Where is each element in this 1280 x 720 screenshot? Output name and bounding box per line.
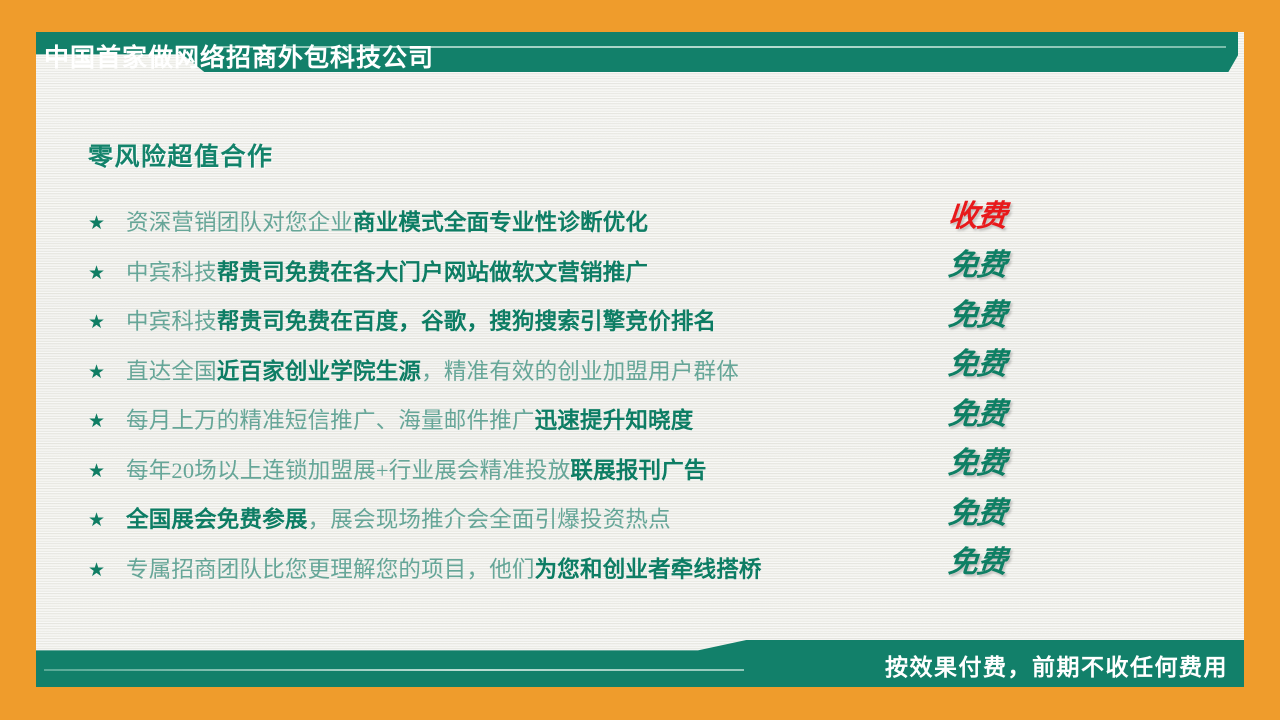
benefit-text-emphasis: 帮贵司免费在百度，谷歌，搜狗搜索引擎竞价排名 [217,309,716,334]
footer-tagline: 按效果付费，前期不收任何费用 [885,648,1228,682]
benefit-row: ★每月上万的精准短信推广、海量邮件推广迅速提升知晓度 [88,397,1088,447]
star-bullet-icon: ★ [88,214,126,233]
benefit-text-regular: 专属招商团队比您更理解您的项目，他们 [126,557,535,582]
benefit-text-emphasis: 帮贵司免费在各大门户网站做软文营销推广 [217,260,648,285]
benefit-text-regular: 直达全国 [126,359,217,384]
star-bullet-icon: ★ [88,561,126,580]
price-cell: 免费 [948,242,1068,292]
price-cell: 免费 [948,489,1068,539]
price-badge-free: 免费 [947,449,1008,479]
price-badge-free: 免费 [947,350,1008,380]
benefit-text-emphasis: 迅速提升知晓度 [535,408,694,433]
star-bullet-icon: ★ [88,313,126,332]
benefit-text: 直达全国近百家创业学院生源，精准有效的创业加盟用户群体 [126,360,1088,385]
benefit-text-regular-tail: ，展会现场推介会全面引爆投资热点 [308,507,671,532]
star-bullet-icon: ★ [88,363,126,382]
section-title: 零风险超值合作 [88,137,274,173]
price-cell: 免费 [948,539,1068,589]
price-cell: 免费 [948,390,1068,440]
price-badge-free: 免费 [947,499,1008,529]
benefit-row: ★全国展会免费参展，展会现场推介会全面引爆投资热点 [88,496,1088,546]
slide-root: 中国首家做网络招商外包科技公司 零风险超值合作 ★资深营销团队对您企业商业模式全… [0,0,1280,720]
benefit-text-emphasis: 商业模式全面专业性诊断优化 [353,210,648,235]
benefit-row: ★专属招商团队比您更理解您的项目，他们为您和创业者牵线搭桥 [88,546,1088,596]
benefit-text-regular: 中宾科技 [126,260,217,285]
benefit-text: 每年20场以上连锁加盟展+行业展会精准投放联展报刊广告 [126,459,1088,484]
price-badge-free: 免费 [947,301,1008,331]
star-bullet-icon: ★ [88,511,126,530]
star-bullet-icon: ★ [88,412,126,431]
benefit-text-regular-tail: ，精准有效的创业加盟用户群体 [421,359,739,384]
benefit-text-emphasis: 全国展会免费参展 [126,507,308,532]
benefit-text-emphasis: 联展报刊广告 [570,458,706,483]
header-title: 中国首家做网络招商外包科技公司 [44,38,434,74]
star-bullet-icon: ★ [88,264,126,283]
price-cell: 收费 [948,192,1068,242]
benefit-text-regular: 每月上万的精准短信推广、海量邮件推广 [126,408,535,433]
benefit-row: ★中宾科技帮贵司免费在各大门户网站做软文营销推广 [88,249,1088,299]
benefits-list: ★资深营销团队对您企业商业模式全面专业性诊断优化★中宾科技帮贵司免费在各大门户网… [88,199,1088,595]
benefit-text: 中宾科技帮贵司免费在百度，谷歌，搜狗搜索引擎竞价排名 [126,310,1088,335]
star-bullet-icon: ★ [88,462,126,481]
benefit-text: 专属招商团队比您更理解您的项目，他们为您和创业者牵线搭桥 [126,558,1088,583]
price-cell: 免费 [948,341,1068,391]
benefit-text-regular: 资深营销团队对您企业 [126,210,353,235]
price-cell: 免费 [948,440,1068,490]
benefit-text-emphasis: 为您和创业者牵线搭桥 [535,557,762,582]
footer-accent-line [44,669,744,671]
price-cell: 免费 [948,291,1068,341]
price-badge-free: 免费 [947,548,1008,578]
price-badge-free: 免费 [947,251,1008,281]
benefit-text: 全国展会免费参展，展会现场推介会全面引爆投资热点 [126,508,1088,533]
benefit-text: 中宾科技帮贵司免费在各大门户网站做软文营销推广 [126,261,1088,286]
price-badge-free: 免费 [947,400,1008,430]
benefit-row: ★资深营销团队对您企业商业模式全面专业性诊断优化 [88,199,1088,249]
price-column: 收费免费免费免费免费免费免费免费 [948,192,1068,588]
benefit-row: ★直达全国近百家创业学院生源，精准有效的创业加盟用户群体 [88,348,1088,398]
benefit-text: 每月上万的精准短信推广、海量邮件推广迅速提升知晓度 [126,409,1088,434]
benefit-text-emphasis: 近百家创业学院生源 [217,359,421,384]
price-badge-paid: 收费 [947,202,1008,232]
benefit-text: 资深营销团队对您企业商业模式全面专业性诊断优化 [126,211,1088,236]
benefit-row: ★中宾科技帮贵司免费在百度，谷歌，搜狗搜索引擎竞价排名 [88,298,1088,348]
benefit-row: ★每年20场以上连锁加盟展+行业展会精准投放联展报刊广告 [88,447,1088,497]
benefit-text-regular: 每年20场以上连锁加盟展+行业展会精准投放 [126,458,570,483]
benefit-text-regular: 中宾科技 [126,309,217,334]
